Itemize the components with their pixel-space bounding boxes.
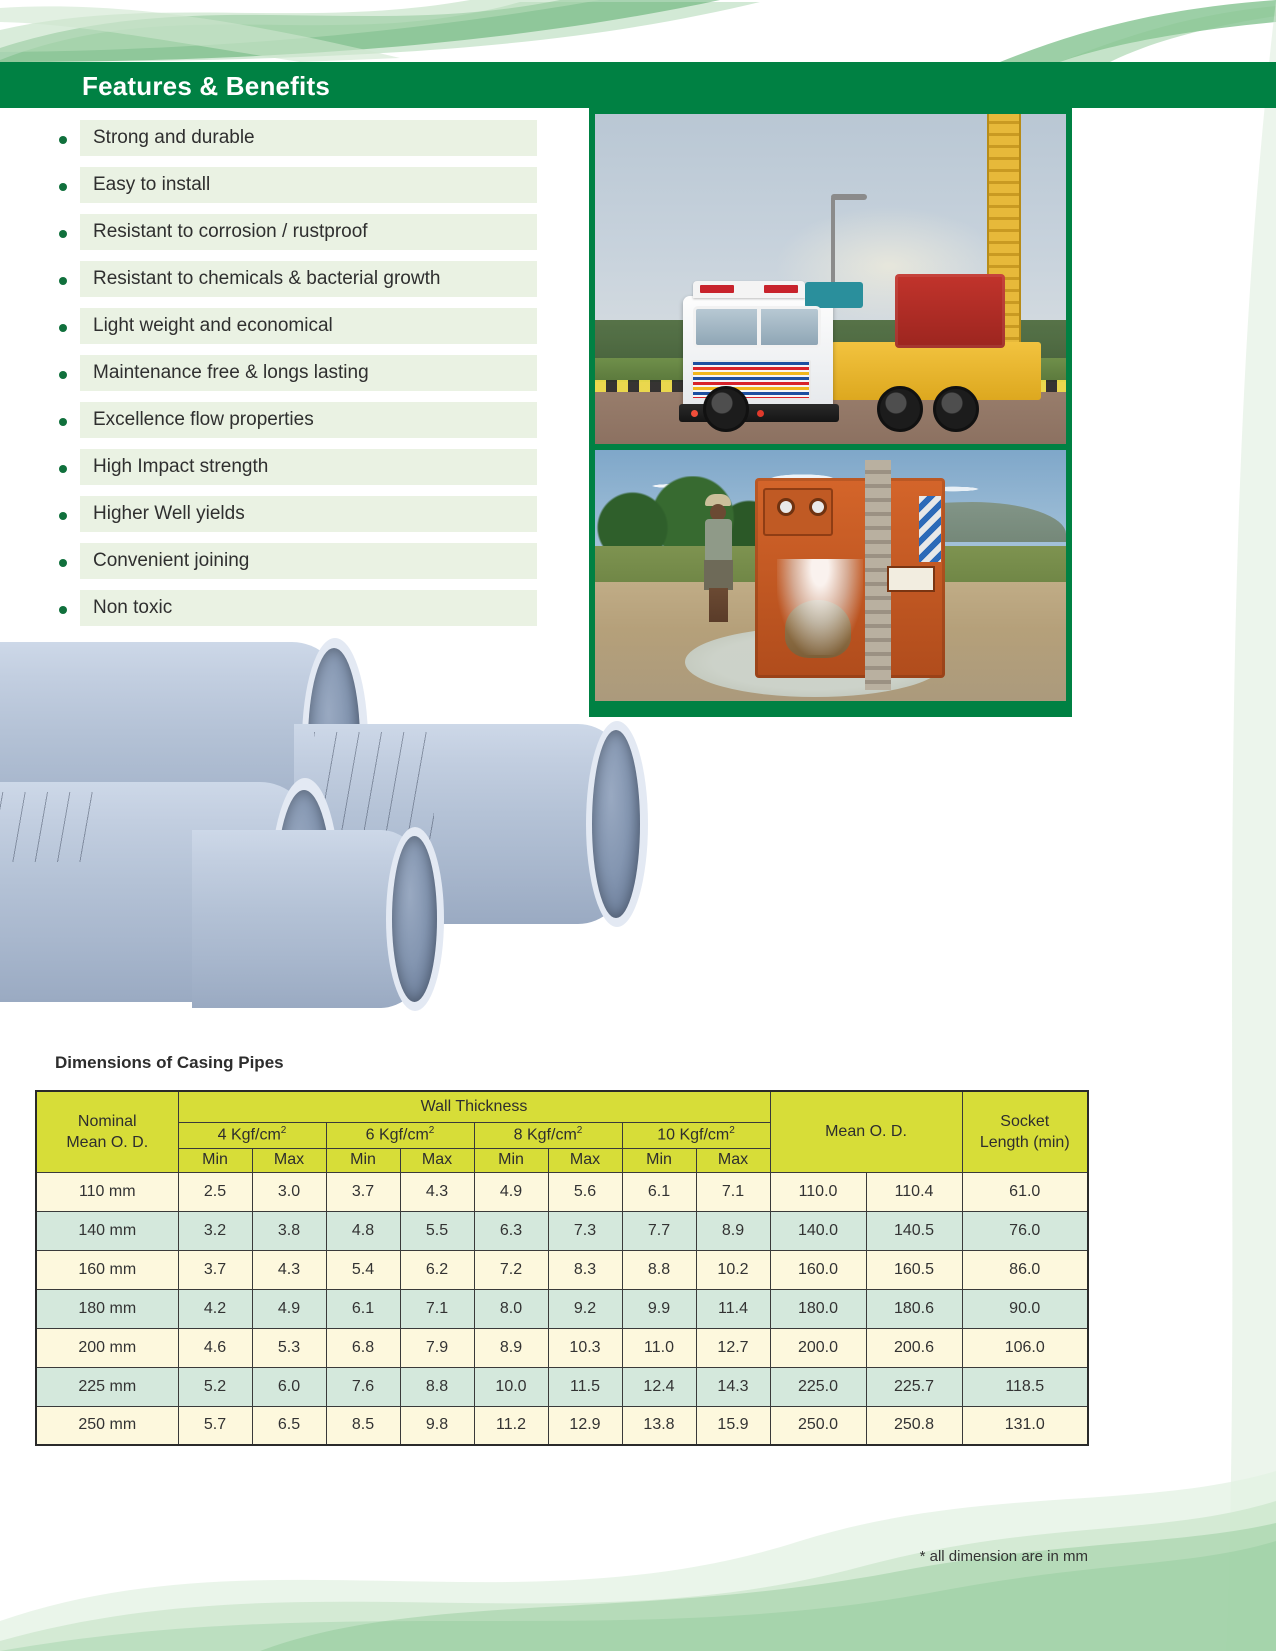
header-wall-thickness: Wall Thickness bbox=[178, 1091, 770, 1122]
cell-socket: 118.5 bbox=[962, 1367, 1088, 1406]
cell-wt: 8.9 bbox=[474, 1328, 548, 1367]
cell-wt: 4.2 bbox=[178, 1289, 252, 1328]
cell-od-max: 140.5 bbox=[866, 1211, 962, 1250]
cell-wt: 15.9 bbox=[696, 1406, 770, 1445]
list-item-label: Higher Well yields bbox=[93, 501, 245, 527]
header-max-6: Max bbox=[400, 1148, 474, 1172]
cell-wt: 8.8 bbox=[622, 1250, 696, 1289]
table-row: 110 mm 2.5 3.0 3.7 4.3 4.9 5.6 6.1 7.1 1… bbox=[36, 1172, 1088, 1211]
cell-wt: 3.7 bbox=[326, 1172, 400, 1211]
header-nominal-line1: Nominal bbox=[37, 1111, 178, 1132]
table-row: 160 mm 3.7 4.3 5.4 6.2 7.2 8.3 8.8 10.2 … bbox=[36, 1250, 1088, 1289]
list-item-label: Resistant to corrosion / rustproof bbox=[93, 219, 368, 245]
list-item-label: High Impact strength bbox=[93, 454, 268, 480]
list-item: Maintenance free & longs lasting bbox=[47, 355, 547, 402]
bullet-icon bbox=[59, 371, 67, 379]
cell-od-max: 160.5 bbox=[866, 1250, 962, 1289]
cell-wt: 10.3 bbox=[548, 1328, 622, 1367]
cell-wt: 14.3 bbox=[696, 1367, 770, 1406]
header-min-8: Min bbox=[474, 1148, 548, 1172]
page-title: Features & Benefits bbox=[82, 71, 330, 102]
list-item: Resistant to corrosion / rustproof bbox=[47, 214, 547, 261]
cell-od-max: 200.6 bbox=[866, 1328, 962, 1367]
list-item: Convenient joining bbox=[47, 543, 547, 590]
cell-wt: 7.6 bbox=[326, 1367, 400, 1406]
list-item-label: Resistant to chemicals & bacterial growt… bbox=[93, 266, 440, 292]
cell-wt: 11.2 bbox=[474, 1406, 548, 1445]
header-min-4: Min bbox=[178, 1148, 252, 1172]
cell-wt: 8.5 bbox=[326, 1406, 400, 1445]
list-item: Resistant to chemicals & bacterial growt… bbox=[47, 261, 547, 308]
cell-wt: 9.8 bbox=[400, 1406, 474, 1445]
cell-wt: 11.5 bbox=[548, 1367, 622, 1406]
cell-nominal: 250 mm bbox=[36, 1406, 178, 1445]
cell-socket: 106.0 bbox=[962, 1328, 1088, 1367]
table-row: 200 mm 4.6 5.3 6.8 7.9 8.9 10.3 11.0 12.… bbox=[36, 1328, 1088, 1367]
cell-wt: 10.0 bbox=[474, 1367, 548, 1406]
cell-wt: 4.8 bbox=[326, 1211, 400, 1250]
pvc-casing-pipes-image bbox=[0, 632, 622, 1037]
cell-wt: 9.2 bbox=[548, 1289, 622, 1328]
header-min-6: Min bbox=[326, 1148, 400, 1172]
cell-wt: 8.9 bbox=[696, 1211, 770, 1250]
top-swoosh-decoration bbox=[0, 0, 1276, 62]
cell-nominal: 225 mm bbox=[36, 1367, 178, 1406]
cell-wt: 6.8 bbox=[326, 1328, 400, 1367]
table-row: 225 mm 5.2 6.0 7.6 8.8 10.0 11.5 12.4 14… bbox=[36, 1367, 1088, 1406]
header-nominal-mean-od: Nominal Mean O. D. bbox=[36, 1091, 178, 1172]
cell-wt: 5.4 bbox=[326, 1250, 400, 1289]
list-item: Strong and durable bbox=[47, 120, 547, 167]
header-nominal-line2: Mean O. D. bbox=[37, 1132, 178, 1153]
header-socket-length: Socket Length (min) bbox=[962, 1091, 1088, 1172]
features-list: Strong and durable Easy to install Resis… bbox=[47, 120, 547, 637]
cell-wt: 3.0 bbox=[252, 1172, 326, 1211]
cell-wt: 4.9 bbox=[252, 1289, 326, 1328]
cell-wt: 13.8 bbox=[622, 1406, 696, 1445]
cell-socket: 131.0 bbox=[962, 1406, 1088, 1445]
table-row: 180 mm 4.2 4.9 6.1 7.1 8.0 9.2 9.9 11.4 … bbox=[36, 1289, 1088, 1328]
header-max-4: Max bbox=[252, 1148, 326, 1172]
brochure-page: Features & Benefits Strong and durable E… bbox=[0, 0, 1276, 1651]
cell-od-max: 180.6 bbox=[866, 1289, 962, 1328]
cell-wt: 6.0 bbox=[252, 1367, 326, 1406]
table-row: 140 mm 3.2 3.8 4.8 5.5 6.3 7.3 7.7 8.9 1… bbox=[36, 1211, 1088, 1250]
drilling-rig-truck-photo bbox=[595, 114, 1066, 444]
cell-od-max: 110.4 bbox=[866, 1172, 962, 1211]
header-pressure-6: 6 Kgf/cm2 bbox=[326, 1122, 474, 1148]
list-item: Higher Well yields bbox=[47, 496, 547, 543]
header-min-10: Min bbox=[622, 1148, 696, 1172]
cell-socket: 61.0 bbox=[962, 1172, 1088, 1211]
cell-wt: 8.0 bbox=[474, 1289, 548, 1328]
bullet-icon bbox=[59, 559, 67, 567]
cell-wt: 12.9 bbox=[548, 1406, 622, 1445]
bullet-icon bbox=[59, 418, 67, 426]
header-socket-line2: Length (min) bbox=[963, 1132, 1088, 1153]
bullet-icon bbox=[59, 183, 67, 191]
cell-nominal: 140 mm bbox=[36, 1211, 178, 1250]
table-header-row-1: Nominal Mean O. D. Wall Thickness Mean O… bbox=[36, 1091, 1088, 1122]
cell-wt: 6.1 bbox=[622, 1172, 696, 1211]
list-item-label: Light weight and economical bbox=[93, 313, 333, 339]
header-pressure-4: 4 Kgf/cm2 bbox=[178, 1122, 326, 1148]
cell-wt: 7.7 bbox=[622, 1211, 696, 1250]
bullet-icon bbox=[59, 277, 67, 285]
table-footnote: * all dimension are in mm bbox=[920, 1548, 1088, 1565]
cell-od-min: 180.0 bbox=[770, 1289, 866, 1328]
cell-wt: 6.2 bbox=[400, 1250, 474, 1289]
section-title-bar: Features & Benefits bbox=[0, 62, 1276, 108]
cell-wt: 4.9 bbox=[474, 1172, 548, 1211]
cell-wt: 7.9 bbox=[400, 1328, 474, 1367]
header-socket-line1: Socket bbox=[963, 1111, 1088, 1132]
cell-wt: 5.3 bbox=[252, 1328, 326, 1367]
cell-wt: 9.9 bbox=[622, 1289, 696, 1328]
cell-socket: 90.0 bbox=[962, 1289, 1088, 1328]
cell-wt: 5.6 bbox=[548, 1172, 622, 1211]
cell-wt: 12.4 bbox=[622, 1367, 696, 1406]
cell-od-min: 250.0 bbox=[770, 1406, 866, 1445]
pipe-front-small bbox=[192, 830, 422, 1008]
cell-od-min: 140.0 bbox=[770, 1211, 866, 1250]
header-max-10: Max bbox=[696, 1148, 770, 1172]
bullet-icon bbox=[59, 230, 67, 238]
list-item: Light weight and economical bbox=[47, 308, 547, 355]
cell-od-max: 225.7 bbox=[866, 1367, 962, 1406]
list-item-label: Maintenance free & longs lasting bbox=[93, 360, 369, 386]
cell-wt: 4.3 bbox=[252, 1250, 326, 1289]
bullet-icon bbox=[59, 324, 67, 332]
cell-wt: 11.4 bbox=[696, 1289, 770, 1328]
cell-wt: 7.1 bbox=[696, 1172, 770, 1211]
cell-wt: 3.7 bbox=[178, 1250, 252, 1289]
cell-wt: 7.1 bbox=[400, 1289, 474, 1328]
cell-od-min: 110.0 bbox=[770, 1172, 866, 1211]
cell-socket: 86.0 bbox=[962, 1250, 1088, 1289]
cell-socket: 76.0 bbox=[962, 1211, 1088, 1250]
header-max-8: Max bbox=[548, 1148, 622, 1172]
cell-wt: 3.8 bbox=[252, 1211, 326, 1250]
cell-od-min: 225.0 bbox=[770, 1367, 866, 1406]
header-pressure-8: 8 Kgf/cm2 bbox=[474, 1122, 622, 1148]
cell-wt: 8.8 bbox=[400, 1367, 474, 1406]
cell-wt: 5.5 bbox=[400, 1211, 474, 1250]
cell-od-max: 250.8 bbox=[866, 1406, 962, 1445]
header-mean-od: Mean O. D. bbox=[770, 1091, 962, 1172]
cell-wt: 5.2 bbox=[178, 1367, 252, 1406]
header-pressure-10: 10 Kgf/cm2 bbox=[622, 1122, 770, 1148]
field-drilling-photo bbox=[595, 444, 1066, 701]
cell-wt: 5.7 bbox=[178, 1406, 252, 1445]
list-item-label: Easy to install bbox=[93, 172, 210, 198]
cell-wt: 7.2 bbox=[474, 1250, 548, 1289]
bullet-icon bbox=[59, 136, 67, 144]
cell-nominal: 110 mm bbox=[36, 1172, 178, 1211]
cell-wt: 11.0 bbox=[622, 1328, 696, 1367]
cell-od-min: 160.0 bbox=[770, 1250, 866, 1289]
cell-wt: 10.2 bbox=[696, 1250, 770, 1289]
cell-wt: 6.1 bbox=[326, 1289, 400, 1328]
table-caption: Dimensions of Casing Pipes bbox=[55, 1053, 284, 1073]
bullet-icon bbox=[59, 512, 67, 520]
right-swoosh-decoration bbox=[1076, 0, 1276, 1651]
list-item-label: Excellence flow properties bbox=[93, 407, 314, 433]
cell-od-min: 200.0 bbox=[770, 1328, 866, 1367]
bullet-icon bbox=[59, 606, 67, 614]
list-item: High Impact strength bbox=[47, 449, 547, 496]
dimensions-table: Nominal Mean O. D. Wall Thickness Mean O… bbox=[35, 1090, 1089, 1446]
cell-wt: 8.3 bbox=[548, 1250, 622, 1289]
cell-wt: 4.3 bbox=[400, 1172, 474, 1211]
list-item: Non toxic bbox=[47, 590, 547, 637]
photo-gallery bbox=[589, 108, 1072, 717]
list-item-label: Strong and durable bbox=[93, 125, 255, 151]
cell-nominal: 180 mm bbox=[36, 1289, 178, 1328]
cell-wt: 3.2 bbox=[178, 1211, 252, 1250]
cell-wt: 6.3 bbox=[474, 1211, 548, 1250]
list-item-label: Non toxic bbox=[93, 595, 172, 621]
cell-nominal: 160 mm bbox=[36, 1250, 178, 1289]
table-row: 250 mm 5.7 6.5 8.5 9.8 11.2 12.9 13.8 15… bbox=[36, 1406, 1088, 1445]
cell-wt: 4.6 bbox=[178, 1328, 252, 1367]
list-item: Easy to install bbox=[47, 167, 547, 214]
list-item: Excellence flow properties bbox=[47, 402, 547, 449]
cell-wt: 6.5 bbox=[252, 1406, 326, 1445]
cell-wt: 7.3 bbox=[548, 1211, 622, 1250]
list-item-label: Convenient joining bbox=[93, 548, 249, 574]
cell-nominal: 200 mm bbox=[36, 1328, 178, 1367]
bullet-icon bbox=[59, 465, 67, 473]
cell-wt: 2.5 bbox=[178, 1172, 252, 1211]
cell-wt: 12.7 bbox=[696, 1328, 770, 1367]
